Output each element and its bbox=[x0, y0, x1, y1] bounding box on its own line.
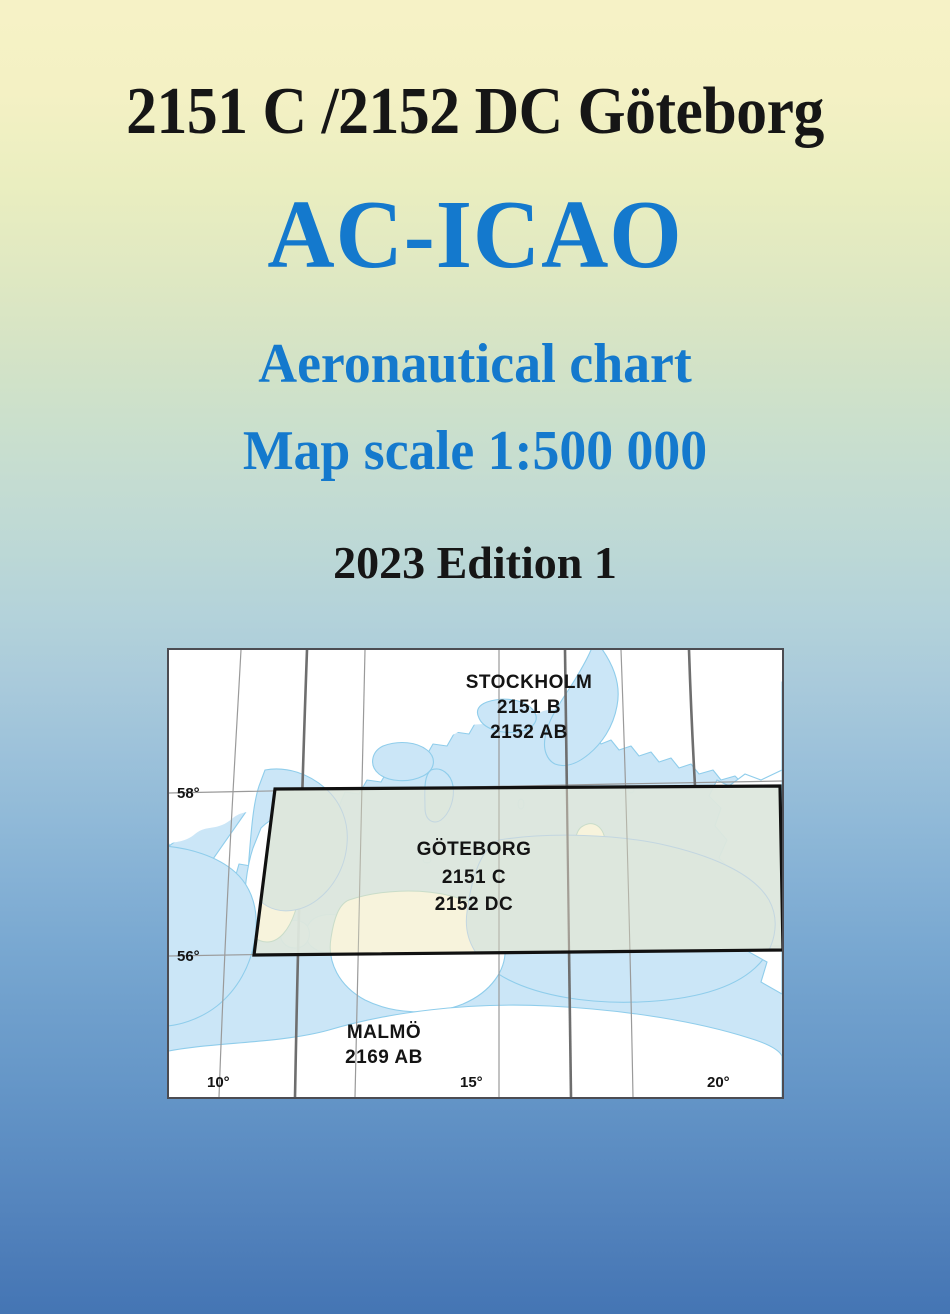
label-stockholm-code-1: 2151 B bbox=[497, 697, 561, 718]
lon-label-20: 20° bbox=[707, 1074, 730, 1091]
index-map-inset: STOCKHOLM 2151 B 2152 AB GÖTEBORG 2151 C… bbox=[167, 648, 784, 1099]
map-scale-label: Map scale 1:500 000 bbox=[19, 423, 931, 479]
lat-label-58: 58° bbox=[177, 785, 200, 802]
lon-label-15: 15° bbox=[460, 1074, 483, 1091]
label-goteborg-code-2: 2152 DC bbox=[435, 894, 514, 915]
label-stockholm-code-2: 2152 AB bbox=[490, 722, 568, 743]
product-name-subtitle: Aeronautical chart bbox=[19, 336, 931, 392]
lon-label-10: 10° bbox=[207, 1074, 230, 1091]
label-malmo-name: MALMÖ bbox=[347, 1022, 421, 1043]
chart-cover: 2151 C /2152 DC Göteborg AC-ICAO Aeronau… bbox=[0, 0, 950, 1314]
label-malmo-code-1: 2169 AB bbox=[345, 1047, 423, 1068]
lat-label-56: 56° bbox=[177, 948, 200, 965]
sheet-title: 2151 C /2152 DC Göteborg bbox=[38, 78, 912, 145]
index-map-svg: STOCKHOLM 2151 B 2152 AB GÖTEBORG 2151 C… bbox=[169, 650, 782, 1097]
label-stockholm-name: STOCKHOLM bbox=[466, 672, 593, 693]
product-code-title: AC-ICAO bbox=[24, 186, 927, 284]
label-goteborg-name: GÖTEBORG bbox=[417, 839, 532, 860]
edition-label: 2023 Edition 1 bbox=[0, 540, 950, 586]
lake-vanern bbox=[373, 743, 434, 781]
label-goteborg-code-1: 2151 C bbox=[442, 867, 506, 888]
